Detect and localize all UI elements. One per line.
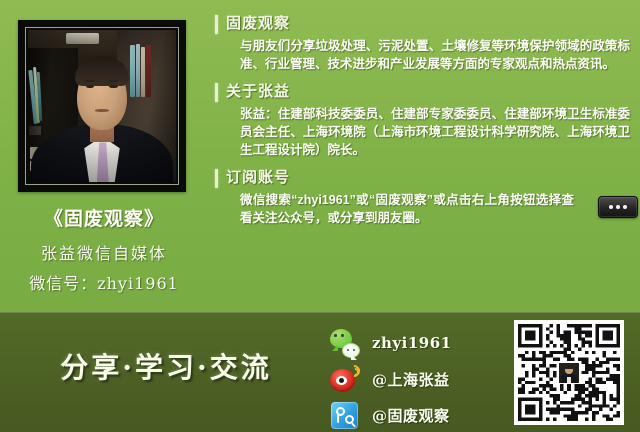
portrait-inner-border [25,27,179,185]
footer-slogan: 分享·学习·交流 [16,346,316,386]
weibo-pupil [339,378,344,383]
wechat-dot [334,334,337,337]
social-label-wechat: zhyi1961 [372,334,452,352]
section-heading-text: 固废观察 [226,15,290,32]
social-row-search[interactable]: @固废观察 [330,398,452,432]
section-heading-text: 关于张益 [226,83,290,100]
more-options-button[interactable] [598,196,638,218]
search-blue-icon [330,400,360,430]
wechat-promo-poster: 《固废观察》 张益微信自媒体 微信号：zhyi1961 固废观察 与朋友们分享垃… [0,0,640,432]
weibo-icon [330,364,360,394]
weibo-signal-waves [348,364,360,376]
qr-avatar-hair [565,365,573,369]
three-dots-icon-dot [616,205,620,209]
section-body: 微信搜索“zhyi1961”或“固废观察”或点击右上角按钮选择查看关注公众号，或… [214,191,634,227]
section-about-account: 固废观察 与朋友们分享垃圾处理、污泥处置、土壤修复等环境保护领域的政策标准、行业… [214,14,634,73]
qr-code-icon[interactable] [514,320,624,425]
social-row-weibo[interactable]: @上海张益 [330,362,452,396]
social-label-search: @固废观察 [372,405,450,426]
section-body: 与朋友们分享垃圾处理、污泥处置、土壤修复等环境保护领域的政策标准、行业管理、技术… [214,37,634,73]
three-dots-icon-dot [609,205,613,209]
section-heading-text: 订阅账号 [226,169,290,186]
heading-marker-icon [215,83,218,102]
portrait-frame [18,20,186,192]
footer-divider [0,312,640,313]
page-title: 《固废观察》 [0,204,208,231]
wechat-dot [341,334,344,337]
heading-marker-icon [215,15,218,34]
wechat-dot [353,349,356,352]
section-heading: 固废观察 [214,14,634,34]
qr-embedded-avatar [558,362,580,384]
three-dots-icon-dot [623,205,627,209]
social-row-wechat[interactable]: zhyi1961 [330,326,452,360]
section-about-zhangyi: 关于张益 张益：住建部科技委委员、住建部专家委委员、住建部环境卫生标准委员会主任… [214,82,634,159]
section-heading: 关于张益 [214,82,634,102]
wechat-bubble-front [342,343,360,358]
search-glyph-stem [337,414,339,423]
section-heading: 订阅账号 [214,168,634,188]
social-label-weibo: @上海张益 [372,369,450,390]
heading-marker-icon [215,169,218,188]
section-subscribe: 订阅账号 微信搜索“zhyi1961”或“固废观察”或点击右上角按钮选择查看关注… [214,168,634,227]
wechat-id-line: 微信号：zhyi1961 [0,270,208,294]
wechat-icon [330,328,360,358]
brand-subtitle: 张益微信自媒体 [0,240,208,264]
info-sections: 固废观察 与朋友们分享垃圾处理、污泥处置、土壤修复等环境保护领域的政策标准、行业… [214,14,634,236]
social-accounts-list: zhyi1961 @上海张益 [330,326,452,432]
qr-avatar-shirt [567,377,571,383]
section-body: 张益：住建部科技委委员、住建部专家委委员、住建部环境卫生标准委员会主任、上海环境… [214,105,634,159]
profile-column: 《固废观察》 张益微信自媒体 微信号：zhyi1961 [0,0,208,312]
wechat-dot [347,349,350,352]
